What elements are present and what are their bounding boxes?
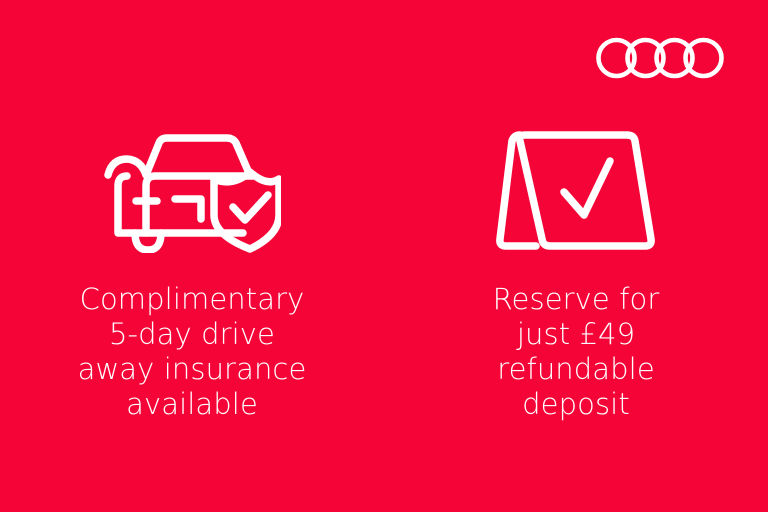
a-frame-sign-with-check-icon [496,120,656,260]
promo-banner: Complimentary 5-day drive away insurance… [0,0,768,512]
car-with-shield-check-icon [103,120,281,260]
feature-row: Complimentary 5-day drive away insurance… [0,120,768,422]
feature-caption-refundable-deposit: Reserve for just £49 refundable deposit [493,282,660,422]
feature-caption-drive-away-insurance: Complimentary 5-day drive away insurance… [78,282,307,422]
audi-four-rings-logo [596,36,730,80]
feature-refundable-deposit: Reserve for just £49 refundable deposit [384,120,768,422]
feature-drive-away-insurance: Complimentary 5-day drive away insurance… [0,120,384,422]
